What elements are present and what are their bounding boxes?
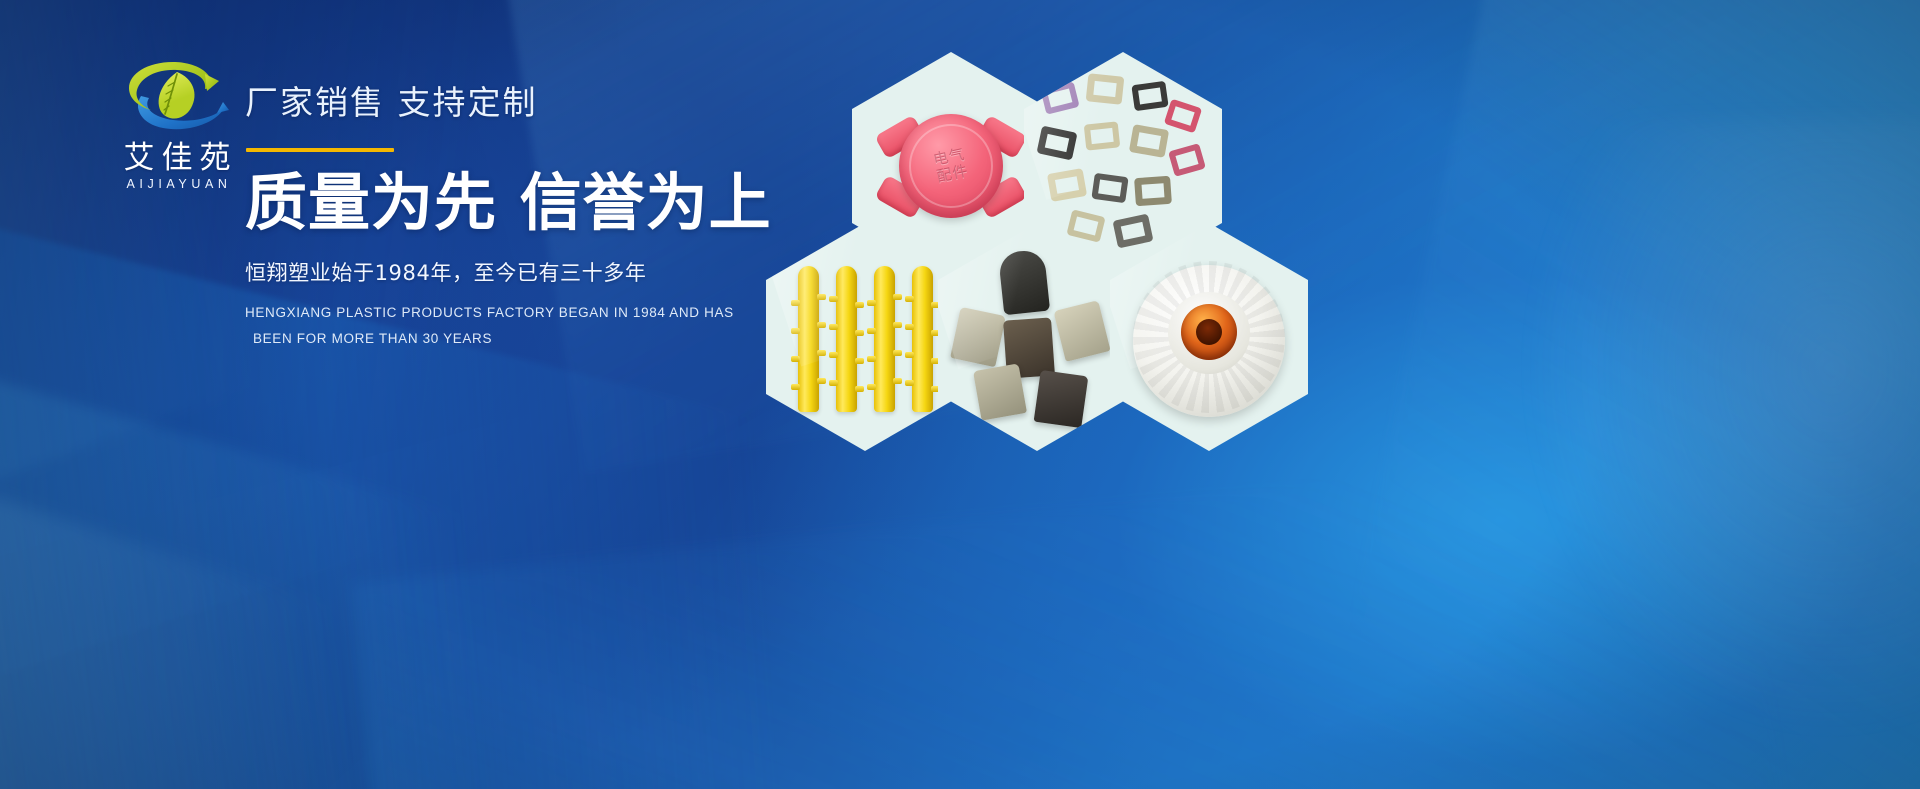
- accent-divider-rule: [246, 148, 394, 152]
- leaf-swoosh-logo-mark-icon: [115, 52, 239, 138]
- grey-black-clips-image: [949, 249, 1125, 425]
- plastic-buckles-image: [1035, 71, 1211, 261]
- promotional-banner: 艾佳苑 AIJIAYUAN 厂家销售 支持定制 质量为先 信誉为上 恒翔塑业始于…: [0, 0, 1920, 789]
- junction-box-emboss-text: 电气 配件: [932, 146, 970, 186]
- background-streak-bottom-center: [350, 438, 1809, 789]
- product-hexagon-cluster: 电气 配件: [800, 42, 1320, 387]
- lamp-holder-image: [1121, 249, 1297, 425]
- background-streak-bottom-left-3: [0, 461, 549, 789]
- yellow-wall-anchors-image: [790, 252, 940, 422]
- background-streak-bottom-left-2: [0, 337, 711, 789]
- red-cross-junction-box-image: 电气 配件: [876, 96, 1026, 236]
- background-streak-right: [1286, 0, 1920, 789]
- background-glow-right: [1520, 120, 1920, 740]
